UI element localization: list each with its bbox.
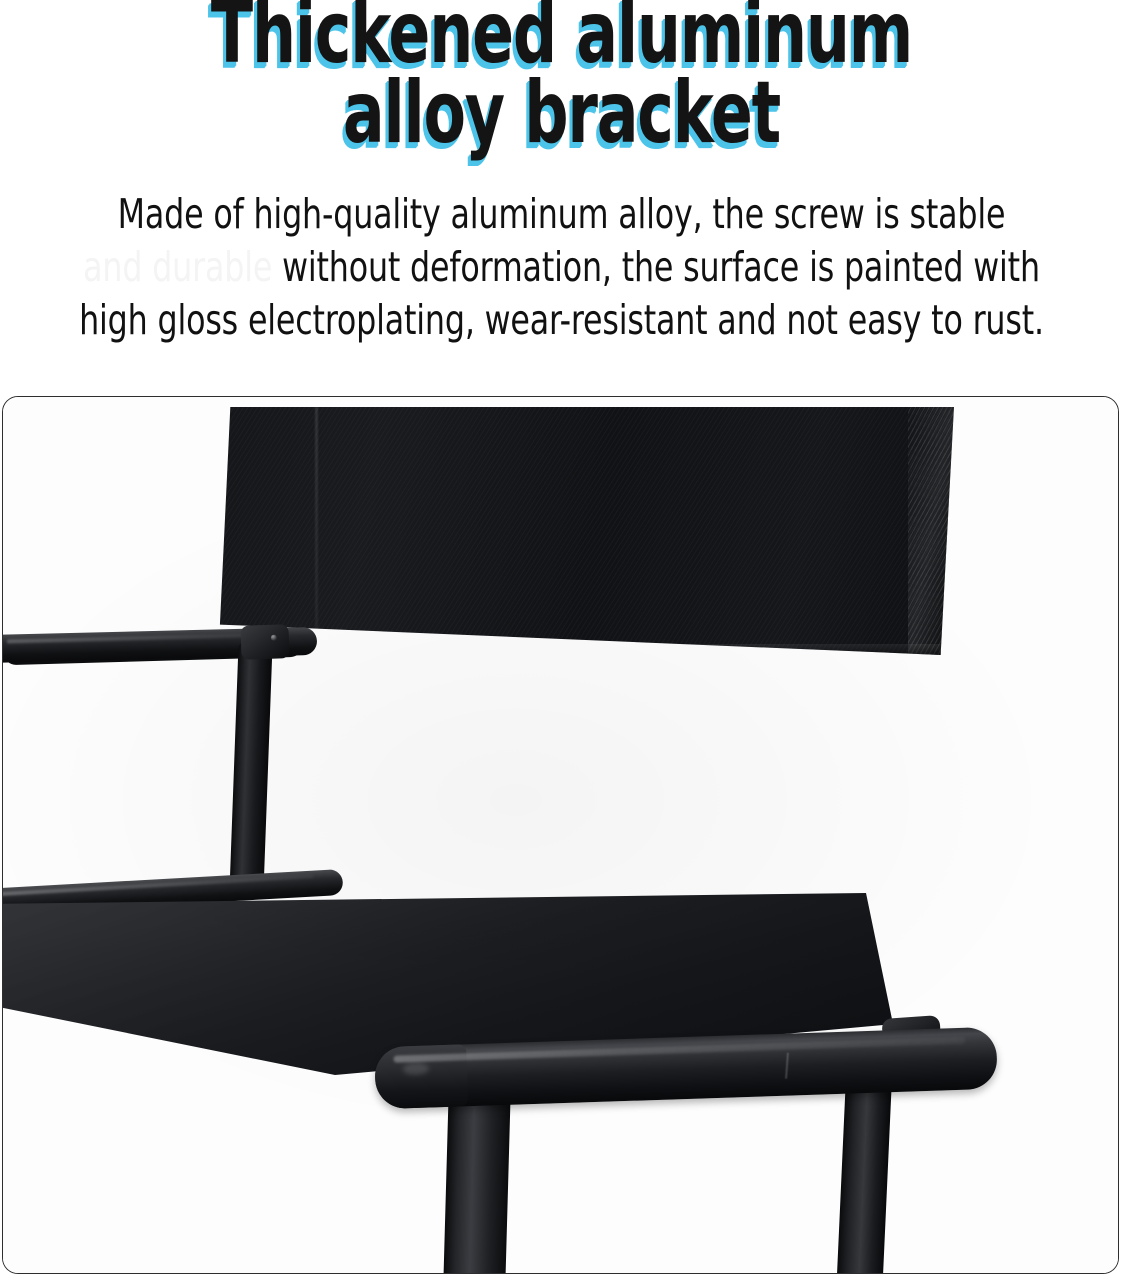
backrest-right-hem: [908, 407, 954, 660]
description-line-2-text: without deformation, the surface is pain…: [272, 243, 1040, 291]
front-armrest-post-left: [439, 1086, 511, 1273]
headline-line-2: alloy bracket: [112, 76, 1010, 152]
product-photo: [3, 397, 1118, 1273]
front-armrest-post-right: [832, 1080, 892, 1273]
description-line-3: high gloss electroplating, wear-resistan…: [79, 294, 1045, 347]
headline-block: Thickened aluminum alloy bracket: [0, 0, 1123, 151]
description-faded-text: and durable: [83, 243, 272, 291]
backrest-seam: [315, 407, 318, 660]
description-block: Made of high-quality aluminum alloy, the…: [0, 188, 1123, 347]
description-line-1: Made of high-quality aluminum alloy, the…: [79, 188, 1045, 241]
product-photo-frame: [2, 396, 1119, 1274]
headline-line-1: Thickened aluminum: [112, 0, 1010, 72]
description-line-2: and durable without deformation, the sur…: [79, 241, 1045, 294]
fabric-weave-texture: [211, 407, 954, 660]
armrest-surface-mark: [785, 1052, 789, 1078]
backrest-canvas: [211, 407, 954, 660]
rivet: [271, 635, 277, 641]
backrest-bottom-hem: [211, 644, 954, 660]
rear-armrest-post: [229, 642, 272, 893]
rear-armrest-knuckle: [240, 624, 289, 660]
